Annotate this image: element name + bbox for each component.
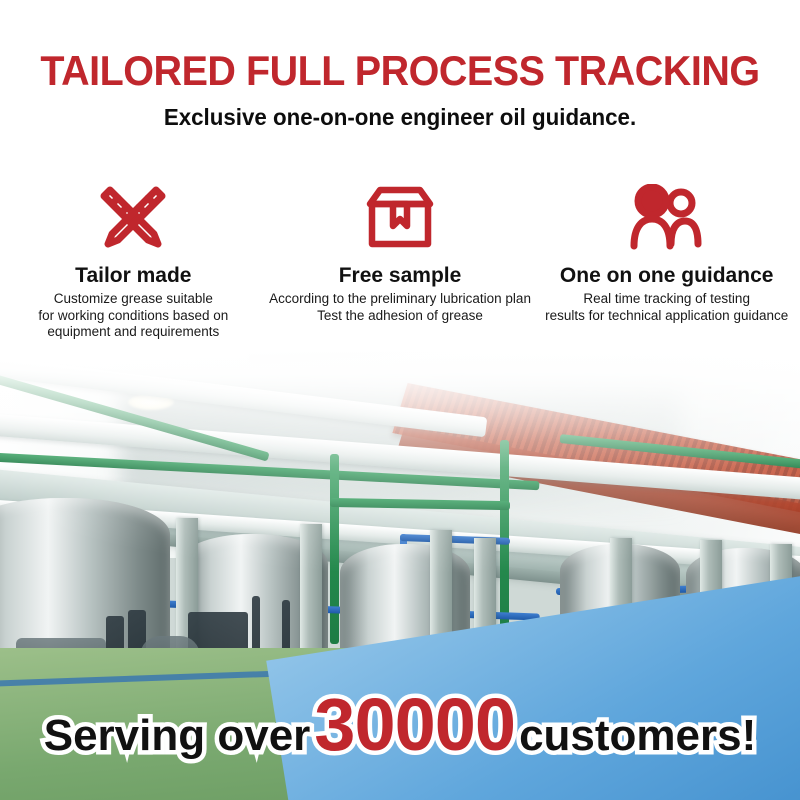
feature-item-tailor-made: Tailor made Customize grease suitable fo… — [0, 178, 267, 358]
two-people-icon — [630, 178, 704, 256]
feature-description-line: According to the preliminary lubrication… — [269, 291, 531, 308]
customer-count-suffix: customers! — [519, 711, 756, 760]
customer-count-prefix: Serving over — [44, 711, 311, 760]
ruler-pencil-icon — [96, 178, 170, 256]
page-title: TAILORED FULL PROCESS TRACKING — [24, 0, 776, 95]
feature-item-one-on-one: One on one guidance Real time tracking o… — [533, 178, 800, 358]
feature-description-line: Customize grease suitable — [38, 291, 228, 308]
feature-title: One on one guidance — [560, 264, 774, 288]
feature-description: Customize grease suitable for working co… — [38, 291, 228, 341]
page-subtitle: Exclusive one-on-one engineer oil guidan… — [12, 95, 788, 131]
promo-banner: TAILORED FULL PROCESS TRACKING Exclusive… — [0, 0, 800, 800]
green-pipe-vertical — [330, 454, 339, 644]
header-block: TAILORED FULL PROCESS TRACKING Exclusive… — [0, 0, 800, 150]
feature-list: Tailor made Customize grease suitable fo… — [0, 178, 800, 358]
feature-title: Free sample — [339, 264, 462, 288]
feature-item-free-sample: Free sample According to the preliminary… — [267, 178, 534, 358]
customer-count-number: 30000 — [314, 683, 515, 766]
package-box-icon — [366, 178, 434, 256]
feature-description-line: Test the adhesion of grease — [269, 308, 531, 325]
feature-description-line: results for technical application guidan… — [545, 308, 788, 325]
customer-count-banner: Serving over30000customers! — [0, 688, 800, 762]
feature-description-line: Real time tracking of testing — [545, 291, 788, 308]
feature-description-line: for working conditions based on — [38, 308, 228, 325]
feature-description-line: equipment and requirements — [38, 324, 228, 341]
feature-description: Real time tracking of testing results fo… — [545, 291, 788, 324]
feature-title: Tailor made — [75, 264, 191, 288]
feature-description: According to the preliminary lubrication… — [269, 291, 531, 324]
